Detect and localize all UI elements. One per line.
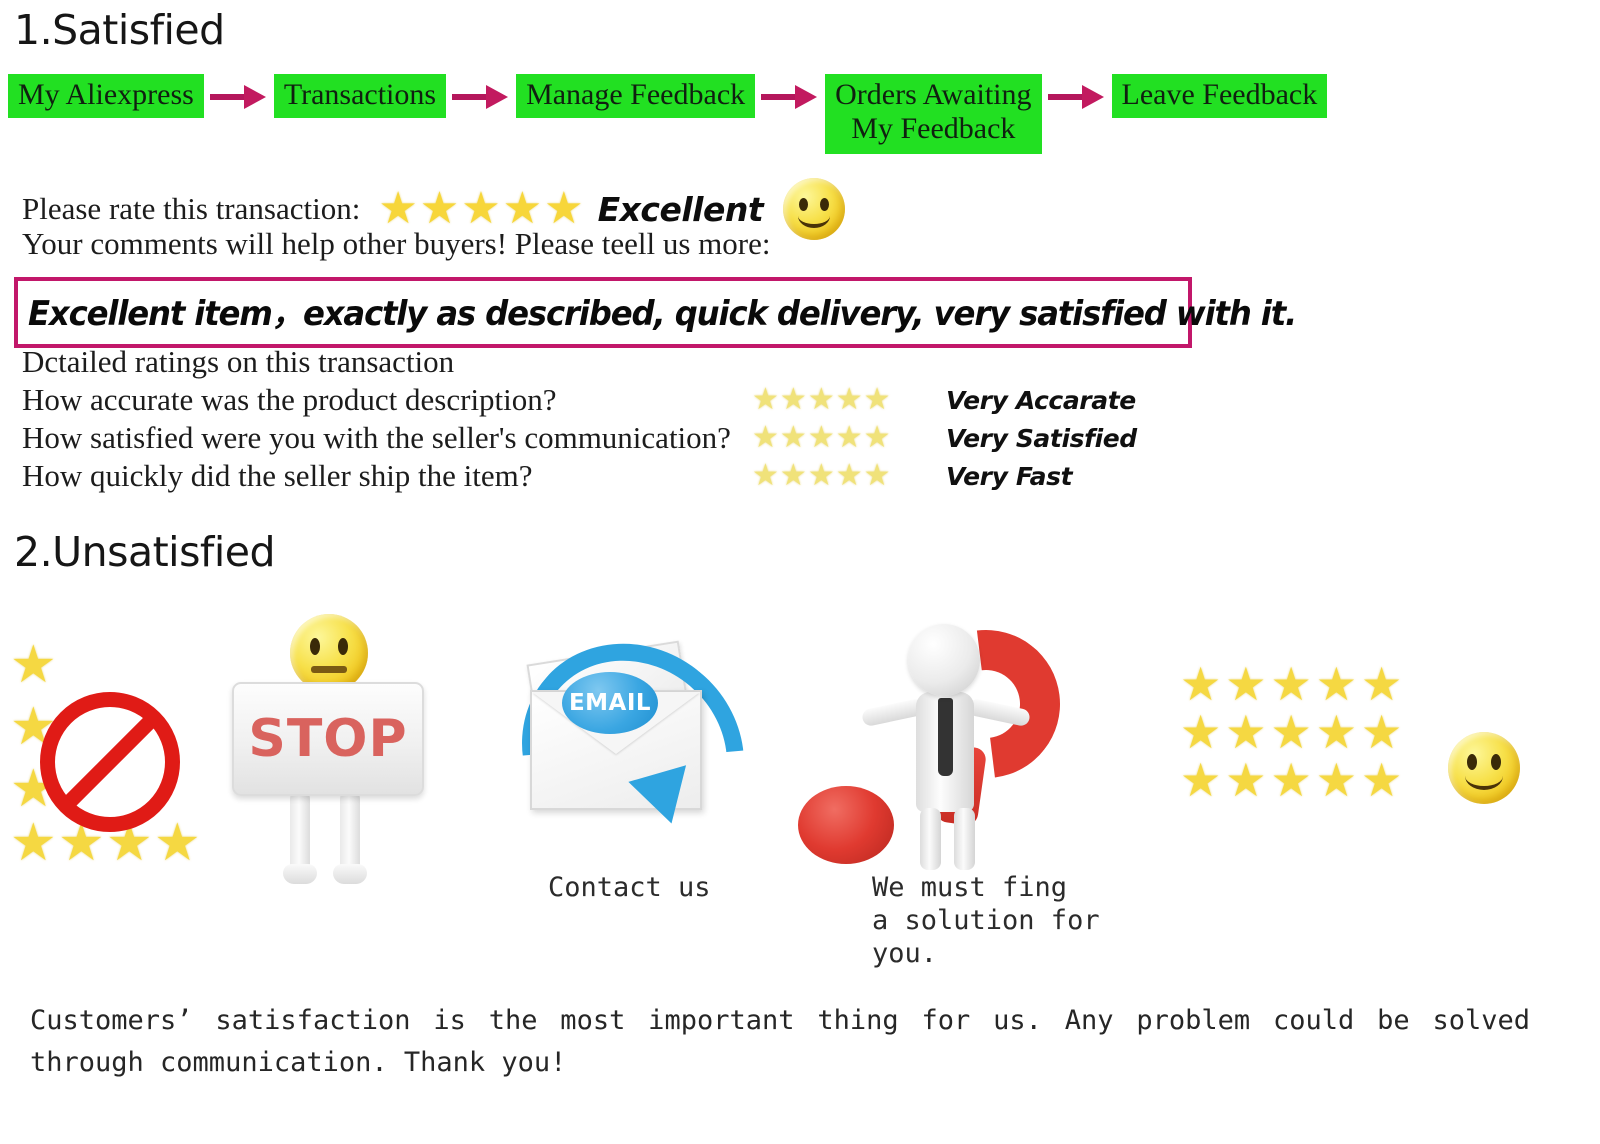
star-icon[interactable]: ★ xyxy=(544,187,583,231)
star-icon[interactable]: ★ xyxy=(780,423,807,453)
arrow-right-icon xyxy=(208,74,270,118)
contact-us-email-illustration[interactable]: EMAIL xyxy=(500,628,740,858)
star-icon[interactable]: ★ xyxy=(1225,710,1266,756)
star-grid-row[interactable]: ★ ★ ★ ★ ★ xyxy=(1180,662,1402,708)
star-icon[interactable]: ★ xyxy=(1316,710,1357,756)
comment-highlight-box[interactable]: Excellent item，exactly as described, qui… xyxy=(14,277,1192,348)
detailed-ratings-list: How accurate was the product description… xyxy=(22,381,1142,495)
find-solution-caption: We must fing a solution for you. xyxy=(872,872,1100,971)
star-icon[interactable]: ★ xyxy=(808,423,835,453)
detailed-stars-communication[interactable]: ★ ★ ★ ★ ★ xyxy=(752,423,932,453)
star-icon[interactable]: ★ xyxy=(1225,758,1266,804)
star-icon[interactable]: ★ xyxy=(1361,662,1402,708)
email-badge-text: EMAIL xyxy=(569,690,651,716)
stop-sign-figure-illustration: STOP xyxy=(228,614,428,884)
star-icon: ★ xyxy=(10,818,57,870)
detailed-ratings-title: Dctailed ratings on this transaction xyxy=(22,344,454,380)
closing-note: Customers’ satisfaction is the most impo… xyxy=(30,1000,1530,1084)
star-icon[interactable]: ★ xyxy=(780,461,807,491)
star-icon[interactable]: ★ xyxy=(836,461,863,491)
star-grid-row[interactable]: ★ ★ ★ ★ ★ xyxy=(1180,758,1402,804)
star-icon[interactable]: ★ xyxy=(1271,710,1312,756)
breadcrumb-step-manage-feedback[interactable]: Manage Feedback xyxy=(516,74,755,118)
happy-smiley-icon xyxy=(1448,732,1520,804)
star-icon[interactable]: ★ xyxy=(836,423,863,453)
star-icon[interactable]: ★ xyxy=(864,461,891,491)
contact-us-caption: Contact us xyxy=(548,872,711,905)
arrow-right-icon xyxy=(450,74,512,118)
detailed-rating-row: How accurate was the product description… xyxy=(22,381,1142,419)
figure-right-leg xyxy=(954,808,975,870)
star-grid-row[interactable]: ★ ★ ★ ★ ★ xyxy=(1180,710,1402,756)
star-icon[interactable]: ★ xyxy=(836,385,863,415)
detailed-rating-row: How quickly did the seller ship the item… xyxy=(22,457,1142,495)
star-icon[interactable]: ★ xyxy=(864,423,891,453)
comments-hint-label: Your comments will help other buyers! Pl… xyxy=(22,226,770,262)
star-icon[interactable]: ★ xyxy=(808,461,835,491)
rating-label: Excellent xyxy=(598,190,764,229)
star-icon[interactable]: ★ xyxy=(420,187,459,231)
star-icon[interactable]: ★ xyxy=(1316,662,1357,708)
star-icon[interactable]: ★ xyxy=(752,423,779,453)
detailed-stars-accuracy[interactable]: ★ ★ ★ ★ ★ xyxy=(752,385,932,415)
star-icon[interactable]: ★ xyxy=(1361,710,1402,756)
star-icon[interactable]: ★ xyxy=(378,187,417,231)
rating-stars[interactable]: ★ ★ ★ ★ ★ xyxy=(378,187,583,231)
star-icon[interactable]: ★ xyxy=(1180,662,1221,708)
figure-left-leg xyxy=(920,808,941,870)
star-icon[interactable]: ★ xyxy=(808,385,835,415)
detailed-stars-shipping[interactable]: ★ ★ ★ ★ ★ xyxy=(752,461,932,491)
star-icon: ★ xyxy=(10,640,57,692)
breadcrumb-step-orders-awaiting-my-feedback[interactable]: Orders Awaiting My Feedback xyxy=(825,74,1041,154)
star-icon[interactable]: ★ xyxy=(1225,662,1266,708)
detailed-label-shipping: Very Fast xyxy=(946,462,1072,491)
star-icon[interactable]: ★ xyxy=(864,385,891,415)
comment-text: Excellent item，exactly as described, qui… xyxy=(28,286,1121,335)
detailed-question-accuracy: How accurate was the product description… xyxy=(22,382,752,418)
prohibition-no-entry-icon xyxy=(40,692,180,832)
unsatisfied-icon-strip: ★ ★ ★ ★ ★ ★ ★ STOP xyxy=(0,600,1600,1000)
email-badge: EMAIL xyxy=(562,672,658,734)
stop-sign-board: STOP xyxy=(232,682,424,796)
breadcrumb: My Aliexpress Transactions Manage Feedba… xyxy=(8,74,1592,154)
star-icon[interactable]: ★ xyxy=(752,461,779,491)
star-icon: ★ xyxy=(154,818,201,870)
figure-necktie xyxy=(938,698,953,776)
section-heading-satisfied: 1.Satisfied xyxy=(14,6,225,54)
star-icon[interactable]: ★ xyxy=(1316,758,1357,804)
no-low-rating-illustration: ★ ★ ★ ★ ★ ★ ★ xyxy=(8,640,223,870)
stop-sign-text: STOP xyxy=(248,709,407,769)
detailed-label-communication: Very Satisfied xyxy=(946,424,1137,453)
detailed-question-shipping: How quickly did the seller ship the item… xyxy=(22,458,752,494)
figure-head xyxy=(908,624,980,696)
breadcrumb-step-transactions[interactable]: Transactions xyxy=(274,74,446,118)
arrow-right-icon xyxy=(759,74,821,118)
star-icon[interactable]: ★ xyxy=(461,187,500,231)
rate-prompt-label: Please rate this transaction: xyxy=(22,191,360,227)
find-solution-illustration xyxy=(790,608,1120,873)
worried-smiley-icon xyxy=(290,614,368,692)
star-icon[interactable]: ★ xyxy=(752,385,779,415)
star-icon[interactable]: ★ xyxy=(1271,758,1312,804)
breadcrumb-step-leave-feedback[interactable]: Leave Feedback xyxy=(1112,74,1328,118)
happy-smiley-icon xyxy=(783,178,845,240)
detailed-question-communication: How satisfied were you with the seller's… xyxy=(22,420,752,456)
star-icon[interactable]: ★ xyxy=(1361,758,1402,804)
five-star-rating-grid[interactable]: ★ ★ ★ ★ ★ ★ ★ ★ ★ ★ ★ ★ ★ ★ ★ xyxy=(1180,662,1402,804)
star-icon[interactable]: ★ xyxy=(780,385,807,415)
breadcrumb-step-my-aliexpress[interactable]: My Aliexpress xyxy=(8,74,204,118)
star-icon[interactable]: ★ xyxy=(503,187,542,231)
detailed-label-accuracy: Very Accarate xyxy=(946,386,1136,415)
section-heading-unsatisfied: 2.Unsatisfied xyxy=(14,528,275,576)
star-icon[interactable]: ★ xyxy=(1180,710,1221,756)
star-icon[interactable]: ★ xyxy=(1271,662,1312,708)
arrow-right-icon xyxy=(1046,74,1108,118)
star-icon[interactable]: ★ xyxy=(1180,758,1221,804)
question-mark-dot xyxy=(798,786,894,864)
detailed-rating-row: How satisfied were you with the seller's… xyxy=(22,419,1142,457)
